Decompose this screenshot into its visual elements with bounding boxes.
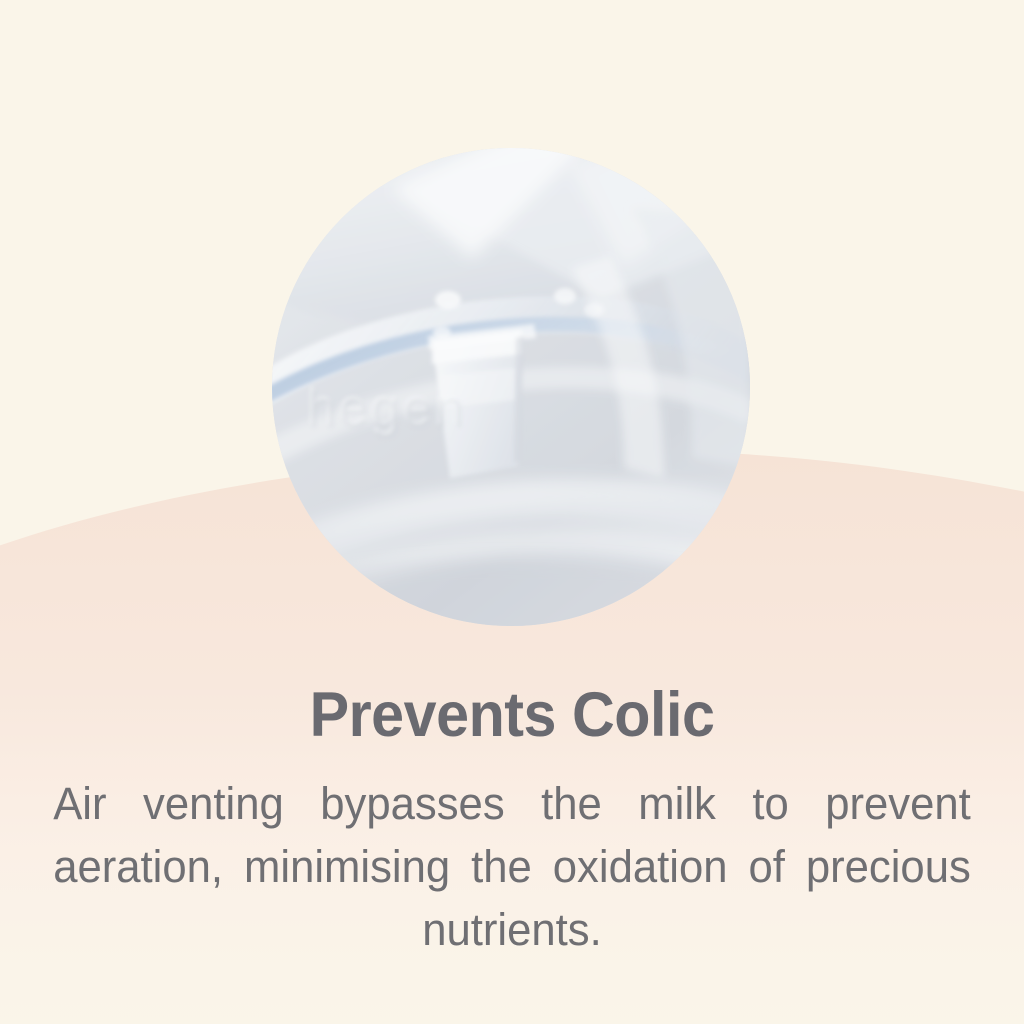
feature-description: Air venting bypasses the milk to prevent…	[53, 772, 971, 961]
page-title: Prevents Colic	[31, 678, 994, 752]
feature-card: hegen hegen Prevents Colic Air venting b…	[0, 0, 1024, 1024]
product-photo-circle: hegen hegen	[272, 148, 750, 626]
bottle-teat-vent-photo: hegen hegen	[272, 148, 750, 626]
feature-text-block: Prevents Colic Air venting bypasses the …	[0, 678, 1024, 961]
